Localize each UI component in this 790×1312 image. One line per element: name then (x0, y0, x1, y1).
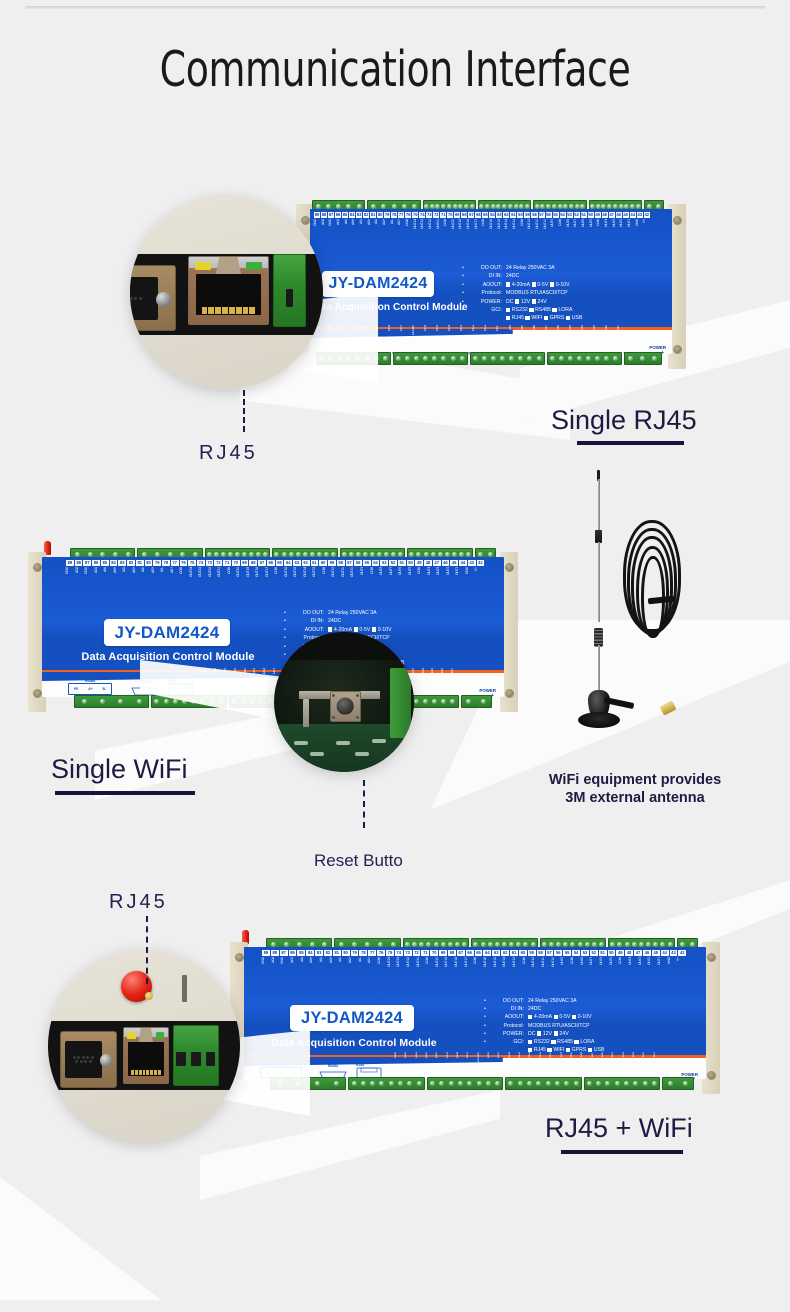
spec-row: •POWER:DC 12V 24V (484, 1030, 606, 1038)
pin-number: 58 (337, 560, 345, 566)
pin-number: 83 (356, 212, 362, 218)
spec-row: •DI IN:24DC (284, 617, 406, 625)
spec-option-marker (506, 282, 510, 286)
pin-label: DI2 (642, 1052, 651, 1078)
pin-label: OUT6 (582, 219, 589, 245)
pin-label: OUT2 (648, 957, 657, 983)
pin-number: 53 (581, 950, 589, 956)
pin-label: DI1 (617, 325, 628, 351)
pin-number: 62 (501, 950, 509, 956)
pin-number: 53 (380, 560, 388, 566)
pin-number: 85 (297, 950, 305, 956)
pin-number: 68 (249, 560, 257, 566)
spec-row: •Protocol:MODBUS RTU/ASCII/TCP (462, 289, 584, 297)
spec-option-marker (528, 1040, 532, 1044)
section-title-single-wifi: Single WiFi (51, 753, 188, 785)
pin-number: 74 (419, 212, 425, 218)
pin-label: OUT7 (390, 567, 399, 593)
pin-number: 70 (430, 950, 438, 956)
pin-label: AI1+ (171, 567, 180, 593)
infographic-page: Communication Interface (0, 0, 790, 1312)
pin-label: OUT10 (552, 957, 561, 983)
spec-key: DO OUT: (468, 264, 502, 272)
spec-option-marker (532, 282, 536, 286)
pin-label: OUT18 (467, 219, 474, 245)
pin-label: OUT21 (218, 567, 227, 593)
model-plate: JY-DAM2424 (104, 619, 230, 646)
spec-value: 4-20mA 0-5V 0-10V (502, 281, 571, 289)
pin-number: 87 (280, 950, 288, 956)
pin-label: DI23 (404, 1052, 413, 1078)
pin-label: AI2+ (383, 219, 390, 245)
spec-value: DC 12V 24V (524, 1030, 570, 1038)
pin-label: OUT6 (600, 957, 609, 983)
pin-label: DI15 (436, 325, 447, 351)
pin-label: OUT19 (459, 219, 466, 245)
top-pin-labels: GNDAO2GNDAO1AI4-AI4+AI3-AI3+AI2-AI2+AI1-… (66, 567, 484, 593)
pin-number: 63 (293, 560, 301, 566)
pin-number: 83 (315, 950, 323, 956)
spec-list: •DO OUT:24 Relay 250VAC 3A•DI IN:24DC•AO… (484, 997, 606, 1054)
pin-label: DI24 (394, 1052, 403, 1078)
pin-label: OUT15 (498, 219, 505, 245)
pin-label: AO1 (291, 957, 300, 983)
pin-number: 82 (127, 560, 135, 566)
pin-number: 84 (110, 560, 118, 566)
pin-number: 57 (346, 560, 354, 566)
spec-key: AOOUT: (490, 1013, 524, 1021)
pin-label: OUT9 (561, 957, 570, 983)
pin-label: OUT22 (407, 957, 416, 983)
pin-label: DI5 (569, 325, 580, 351)
pin-label: OUT14 (304, 567, 313, 593)
pin-number: 49 (595, 212, 601, 218)
pin-label: OUT9 (361, 567, 370, 593)
pin-label: OUT4 (605, 219, 612, 245)
section-title-rj45-wifi: RJ45 + WiFi (545, 1112, 693, 1144)
pin-number: 72 (413, 950, 421, 956)
pin-label: DI15 (497, 1052, 506, 1078)
pin-label: COM (619, 957, 628, 983)
pin-label: OUT24 (388, 957, 397, 983)
pin-label: GND (262, 957, 271, 983)
section-underline (561, 1150, 683, 1154)
pin-label: AI2- (142, 567, 151, 593)
spec-key: GCI: (468, 306, 502, 314)
pin-label: AO1 (337, 219, 344, 245)
pin-label: OUT2 (620, 219, 627, 245)
spec-row: •DO OUT:24 Relay 250VAC 3A (462, 264, 584, 272)
pin-number: 72 (433, 212, 439, 218)
pin-number: 75 (412, 212, 418, 218)
pin-label: GND (329, 219, 336, 245)
pin-label: OUT8 (380, 567, 389, 593)
pin-number: 46 (616, 212, 622, 218)
pin-number: 57 (539, 212, 545, 218)
pin-label: DI3 (593, 325, 604, 351)
pin-label: AI4+ (310, 957, 319, 983)
pin-number: 78 (162, 560, 170, 566)
pin-label: DI6 (557, 325, 568, 351)
pin-label: COM (559, 219, 566, 245)
pin-number: 76 (405, 212, 411, 218)
pin-label: DI4 (422, 668, 431, 694)
section-underline (55, 791, 195, 795)
pin-label: OUT17 (266, 567, 275, 593)
spec-value: 24DC (524, 1005, 541, 1013)
pin-label: OUT4 (428, 567, 437, 593)
pin-label: AI3- (360, 219, 367, 245)
pin-label: OUT5 (610, 957, 619, 983)
pin-number: 54 (372, 560, 380, 566)
spec-row: •DI IN:24DC (484, 1005, 606, 1013)
pin-label: DI2 (605, 325, 616, 351)
light-ray (0, 1150, 260, 1300)
pin-number: 70 (447, 212, 453, 218)
spec-option-marker (525, 316, 529, 320)
pin-number: 48 (602, 212, 608, 218)
pin-number: 48 (424, 560, 432, 566)
pin-label: AI2- (375, 219, 382, 245)
pin-number: 71 (223, 560, 231, 566)
pin-number: 62 (503, 212, 509, 218)
pin-label: OUT20 (237, 567, 246, 593)
pin-label: DI9 (560, 1052, 569, 1078)
pin-label: OUT11 (536, 219, 543, 245)
pin-number: 55 (563, 950, 571, 956)
pin-number: 59 (524, 212, 530, 218)
pin-label: OUT1 (658, 957, 667, 983)
pin-number: 74 (197, 560, 205, 566)
pin-label: AI1+ (398, 219, 405, 245)
pin-number: 63 (492, 950, 500, 956)
pin-label: OUT17 (475, 219, 482, 245)
pin-number: 76 (377, 950, 385, 956)
spec-row: •DI IN:24DC (462, 272, 584, 280)
callout-label-rj45: RJ45 (199, 441, 258, 465)
pin-label: AI4- (345, 219, 352, 245)
bottom-pin-labels: DI24DI23DI22DI21DI20DI19DI18DI17DCOMDI16… (394, 1052, 662, 1078)
pin-number: 79 (351, 950, 359, 956)
pin-number: 49 (616, 950, 624, 956)
pin-label: OUT12 (532, 957, 541, 983)
pin-label: OUT10 (544, 219, 551, 245)
pin-number: 75 (188, 560, 196, 566)
pin-number: 47 (433, 560, 441, 566)
pin-label: OUT11 (542, 957, 551, 983)
pin-label: DI3 (431, 668, 440, 694)
pin-number: 66 (466, 950, 474, 956)
pin-label: AO1 (95, 567, 104, 593)
board-body: 8988878685848382818079787776757473727170… (244, 947, 706, 1079)
pin-label: V+ (475, 567, 484, 593)
spec-value: RS232 RS485 LORA (524, 1038, 596, 1046)
pin-label: COM (418, 567, 427, 593)
pin-label: COM (180, 567, 189, 593)
spec-row: •AOOUT:4-20mA 0-5V 0-10V (462, 281, 584, 289)
pin-label: GND (85, 567, 94, 593)
spec-row: •GCI:RS232 RS485 LORA (462, 306, 584, 314)
pin-label: OUT13 (513, 219, 520, 245)
pin-number: 69 (439, 950, 447, 956)
pin-number: 81 (333, 950, 341, 956)
pin-label: OUT13 (313, 567, 322, 593)
pin-label: AI2- (339, 957, 348, 983)
pin-number: 65 (482, 212, 488, 218)
antenna-caption-line-1: WiFi equipment provides (503, 771, 767, 789)
spec-option-marker (515, 299, 519, 303)
pin-label: DCOM (521, 325, 532, 351)
pin-label: OUT12 (528, 219, 535, 245)
pin-number: 43 (670, 950, 678, 956)
pin-label: OUT23 (397, 957, 406, 983)
pin-number: 78 (359, 950, 367, 956)
pin-label: OUT9 (551, 219, 558, 245)
spec-key: DI IN: (490, 1005, 524, 1013)
pin-number: 70 (232, 560, 240, 566)
pin-label: AI1- (359, 957, 368, 983)
pin-number: 46 (643, 950, 651, 956)
pin-label: OUT8 (581, 957, 590, 983)
pin-label: DI14 (508, 1052, 517, 1078)
spec-list: •DO OUT:24 Relay 250VAC 3A•DI IN:24DC•AO… (462, 264, 584, 323)
spec-value: MODBUS RTU/ASCII/TCP (502, 289, 568, 297)
pin-label: COM (371, 567, 380, 593)
pin-number: 83 (118, 560, 126, 566)
spec-key: DI IN: (290, 617, 324, 625)
pin-label: COM (474, 957, 483, 983)
pin-label: GND (466, 567, 475, 593)
pin-label: AI3- (123, 567, 132, 593)
model-plate: JY-DAM2424 (290, 1005, 414, 1031)
pin-label: OUT17 (465, 957, 474, 983)
pin-number: 63 (496, 212, 502, 218)
pin-label: AI2+ (349, 957, 358, 983)
pin-number: 59 (328, 560, 336, 566)
pin-label: DI13 (460, 325, 471, 351)
pin-number: 55 (553, 212, 559, 218)
pin-label: OUT7 (574, 219, 581, 245)
pin-label: DI1 (451, 668, 460, 694)
pin-label: OUT16 (484, 957, 493, 983)
pin-number: 86 (335, 212, 341, 218)
pin-label: DI18 (456, 1052, 465, 1078)
pin-number: 54 (560, 212, 566, 218)
pin-number: 61 (311, 560, 319, 566)
pin-number: 88 (271, 950, 279, 956)
pin-number: 64 (489, 212, 495, 218)
pin-number: 69 (454, 212, 460, 218)
pin-label: GND (636, 219, 643, 245)
spec-row: •Protocol:MODBUS RTU/ASCII/TCP (484, 1022, 606, 1030)
spec-value: 24 Relay 250VAC 3A (524, 997, 577, 1005)
top-pin-numbers: 8988878685848382818079787776757473727170… (314, 212, 650, 218)
pin-number: 44 (661, 950, 669, 956)
pin-label: GND (668, 957, 677, 983)
pin-number: 67 (468, 212, 474, 218)
pin-label: AI1- (391, 219, 398, 245)
pin-label: COM (444, 219, 451, 245)
pin-label: AI3+ (368, 219, 375, 245)
board-subtitle: Data Acquisition Control Module (80, 651, 256, 663)
pin-label: DCOM (570, 1052, 579, 1078)
pin-number: 65 (276, 560, 284, 566)
spec-option-marker (544, 316, 548, 320)
pin-number: 43 (468, 560, 476, 566)
spec-key: DI IN: (468, 272, 502, 280)
spec-option-marker (537, 1031, 541, 1035)
page-title: Communication Interface (55, 40, 734, 100)
pin-label: COM (275, 567, 284, 593)
pin-number: 73 (404, 950, 412, 956)
pin-label: OUT19 (247, 567, 256, 593)
pin-number: 72 (214, 560, 222, 566)
spec-value: 24DC (324, 617, 341, 625)
pin-label: DI14 (448, 325, 459, 351)
pin-number: 74 (395, 950, 403, 956)
pin-number: 80 (342, 950, 350, 956)
spec-value: RJ45 WIFI GPRS USB (502, 314, 584, 322)
pin-number: 82 (363, 212, 369, 218)
pin-number: 42 (678, 950, 686, 956)
pin-number: 79 (153, 560, 161, 566)
pin-number: 45 (450, 560, 458, 566)
pin-label: DI17 (466, 1052, 475, 1078)
pin-number: 68 (448, 950, 456, 956)
spec-option-marker (554, 1015, 558, 1019)
rj45-port-photo-inset (130, 196, 323, 389)
pin-label: DI12 (528, 1052, 537, 1078)
pin-number: 57 (546, 950, 554, 956)
pin-label: DI21 (425, 1052, 434, 1078)
pin-label: DI4 (581, 325, 592, 351)
pin-label: DI10 (549, 1052, 558, 1078)
spec-value: 4-20mA 0-5V 0-10V (524, 1013, 593, 1021)
pin-label: AO2 (272, 957, 281, 983)
pin-number: 51 (599, 950, 607, 956)
pin-label: OUT1 (628, 219, 635, 245)
pin-label: DCOM (477, 1052, 486, 1078)
pin-number: 58 (531, 212, 537, 218)
pin-number: 56 (546, 212, 552, 218)
pin-label: AI1+ (368, 957, 377, 983)
pin-label: OUT3 (437, 567, 446, 593)
pin-label: DI5 (611, 1052, 620, 1078)
pin-label: OUT15 (294, 567, 303, 593)
spec-key: GCI: (490, 1038, 524, 1046)
pin-label: DI17 (400, 325, 411, 351)
pin-number: 76 (180, 560, 188, 566)
spec-option-marker (551, 1040, 555, 1044)
pin-number: 55 (363, 560, 371, 566)
pin-number: 87 (328, 212, 334, 218)
pin-label: GND (281, 957, 290, 983)
pin-number: 61 (510, 950, 518, 956)
pin-label: GND (66, 567, 75, 593)
spec-key: DO OUT: (490, 997, 524, 1005)
pin-number: 87 (83, 560, 91, 566)
pin-number: 60 (319, 560, 327, 566)
pin-number: 77 (398, 212, 404, 218)
pin-label: V+ (677, 957, 686, 983)
pin-label: AI4+ (114, 567, 123, 593)
spec-option-marker (506, 316, 510, 320)
pin-number: 77 (368, 950, 376, 956)
pin-label: DI11 (484, 325, 495, 351)
pin-number: 42 (477, 560, 485, 566)
pin-number: 77 (171, 560, 179, 566)
pin-label: COM (406, 219, 413, 245)
pin-label: OUT1 (456, 567, 465, 593)
pin-number: 53 (567, 212, 573, 218)
spec-key: DO OUT: (290, 609, 324, 617)
pin-label: COM (597, 219, 604, 245)
spec-option-marker (552, 308, 556, 312)
reset-button-photo-inset (274, 632, 414, 772)
pin-label: DI2 (441, 668, 450, 694)
pin-number: 85 (342, 212, 348, 218)
pin-number: 84 (306, 950, 314, 956)
spec-row: •POWER:DC 12V 24V (462, 298, 584, 306)
pin-label: OUT7 (590, 957, 599, 983)
pin-number: 44 (459, 560, 467, 566)
pin-label: OUT22 (429, 219, 436, 245)
pin-label: OUT2 (447, 567, 456, 593)
spec-value: DC 12V 24V (502, 298, 548, 306)
pin-number: 73 (206, 560, 214, 566)
pin-number: 62 (302, 560, 310, 566)
pin-label: DI10 (496, 325, 507, 351)
pin-label: OUT10 (351, 567, 360, 593)
spec-value: MODBUS RTU/ASCII/TCP (524, 1022, 590, 1030)
pin-number: 60 (519, 950, 527, 956)
spec-option-marker (574, 1040, 578, 1044)
pin-label: DI8 (580, 1052, 589, 1078)
pin-label: OUT8 (567, 219, 574, 245)
spec-row: •DO OUT:24 Relay 250VAC 3A (484, 997, 606, 1005)
pin-number: 67 (457, 950, 465, 956)
pin-number: 52 (389, 560, 397, 566)
pin-label: DI9 (509, 325, 520, 351)
pin-label: AO2 (76, 567, 85, 593)
pin-number: 49 (415, 560, 423, 566)
pin-number: 81 (370, 212, 376, 218)
pin-number: 86 (289, 950, 297, 956)
pin-label: DI16 (487, 1052, 496, 1078)
pin-label: DI11 (539, 1052, 548, 1078)
spec-option-marker (529, 308, 533, 312)
pin-number: 56 (354, 560, 362, 566)
pin-number: 84 (349, 212, 355, 218)
pin-label: DI13 (518, 1052, 527, 1078)
pin-label: COM (228, 567, 237, 593)
spec-value: 24DC (502, 272, 519, 280)
callout-label-reset-button: Reset Butto (314, 849, 403, 873)
pin-number: 89 (262, 950, 270, 956)
pin-number: 43 (637, 212, 643, 218)
pin-label: COM (571, 957, 580, 983)
top-pin-labels: GNDAO2GNDAO1AI4-AI4+AI3-AI3+AI2-AI2+AI1-… (314, 219, 650, 245)
pin-label: OUT14 (505, 219, 512, 245)
pin-number: 71 (440, 212, 446, 218)
pin-label: OUT5 (590, 219, 597, 245)
pin-label: DI6 (601, 1052, 610, 1078)
pin-number: 51 (398, 560, 406, 566)
antenna-caption-line-2: 3M external antenna (503, 789, 767, 807)
pin-label: OUT3 (639, 957, 648, 983)
pin-number: 47 (609, 212, 615, 218)
pin-label: COM (426, 957, 435, 983)
